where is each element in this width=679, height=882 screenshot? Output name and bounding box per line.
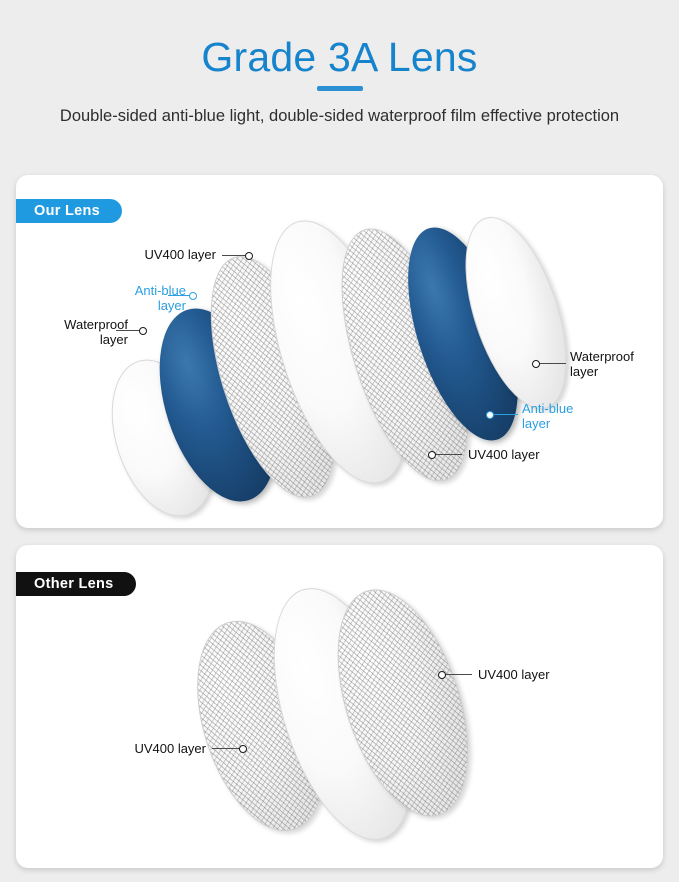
label-waterproof-left: Waterproof layer [20, 317, 128, 348]
other-lens-diagram: UV400 layer UV400 layer [16, 545, 663, 868]
other-lens-card: Other Lens UV400 layer UV400 layer [16, 545, 663, 868]
our-lens-card: Our Lens UV400 layer Anti-blue layer Wat… [16, 175, 663, 528]
our-lens-diagram: UV400 layer Anti-blue layer Waterproof l… [16, 175, 663, 528]
dot-waterproof-right [532, 360, 540, 368]
label-uv400-left: UV400 layer [100, 741, 206, 756]
header: Grade 3A Lens Double-sided anti-blue lig… [0, 0, 679, 127]
label-uv400-right: UV400 layer [478, 667, 598, 682]
leader-uv400-left [222, 255, 246, 256]
leader-uv400-left [212, 748, 240, 749]
label-anti-blue-right: Anti-blue layer [522, 401, 632, 432]
leader-waterproof-left [116, 330, 140, 331]
leader-anti-blue-right [492, 414, 518, 415]
page-title: Grade 3A Lens [0, 36, 679, 79]
dot-anti-blue-left [189, 292, 197, 300]
dot-waterproof-left [139, 327, 147, 335]
dot-uv400-left [239, 745, 247, 753]
leader-uv400-right [434, 454, 462, 455]
leader-uv400-right [444, 674, 472, 675]
leader-anti-blue-left [168, 295, 190, 296]
dot-uv400-left [245, 252, 253, 260]
label-anti-blue-left: Anti-blue layer [76, 283, 186, 314]
label-uv400-left: UV400 layer [112, 247, 216, 262]
dot-uv400-right [428, 451, 436, 459]
label-waterproof-right: Waterproof layer [570, 349, 663, 380]
label-uv400-right: UV400 layer [468, 447, 578, 462]
dot-anti-blue-right [486, 411, 494, 419]
dot-uv400-right [438, 671, 446, 679]
title-underline-accent [317, 86, 363, 91]
page-subtitle: Double-sided anti-blue light, double-sid… [60, 105, 620, 127]
leader-waterproof-right [538, 363, 566, 364]
